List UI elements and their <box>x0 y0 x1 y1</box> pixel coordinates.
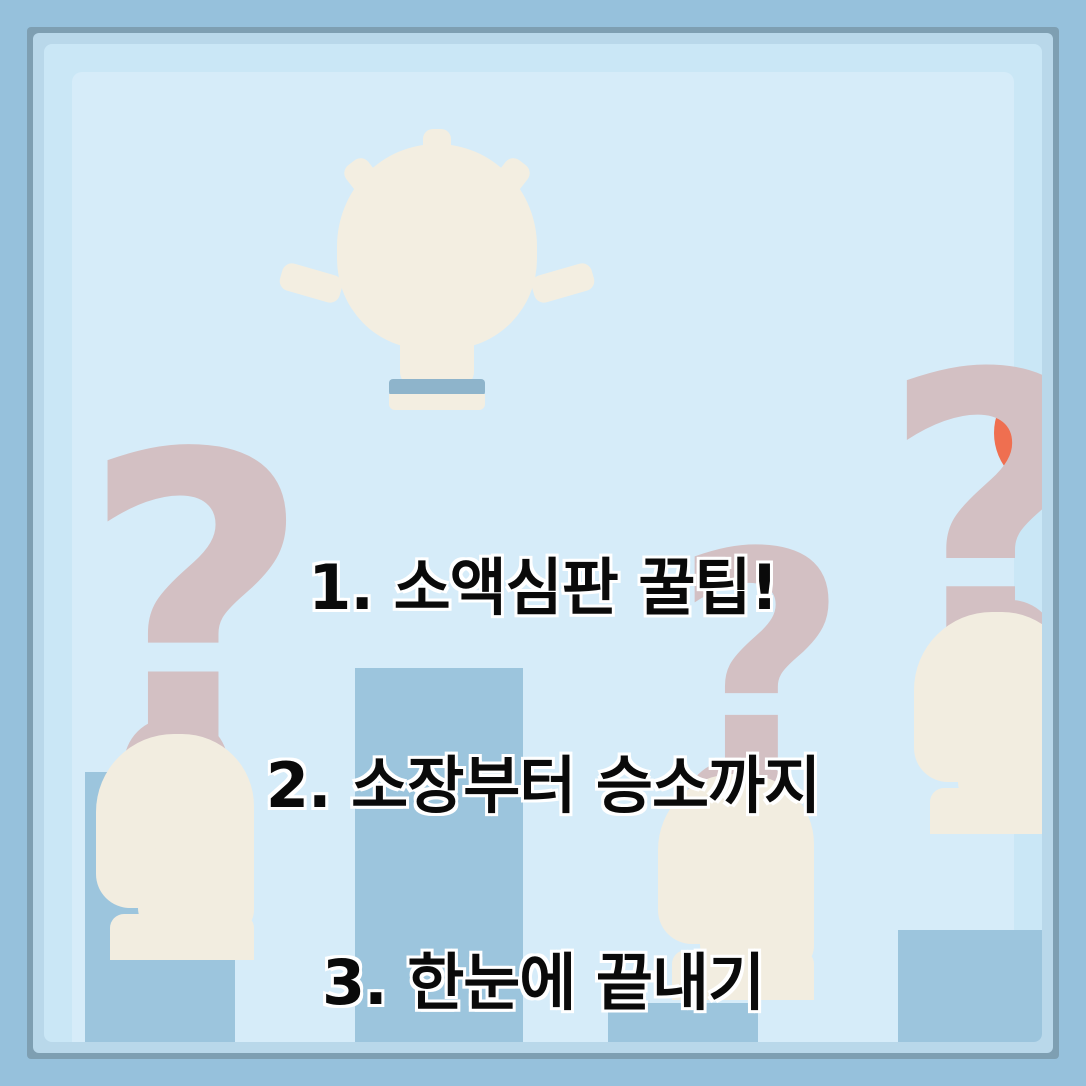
headline-line-2: 2. 소장부터 승소까지 <box>44 753 1042 819</box>
poster-inner-panel: ? ? ? <box>44 44 1042 1042</box>
idea-lightbulb <box>337 84 577 424</box>
page-title: 1. 소액심판 꿀팁! 2. 소장부터 승소까지 3. 한눈에 끝내기 <box>44 424 1042 1042</box>
headline-line-3: 3. 한눈에 끝내기 <box>44 950 1042 1016</box>
headline-line-1: 1. 소액심판 꿀팁! <box>44 555 1042 621</box>
bulb-ray-right <box>529 261 596 305</box>
bulb-cap-lower <box>389 394 485 410</box>
bulb-ray-left <box>277 261 344 305</box>
poster-canvas: ? ? ? <box>0 0 1086 1086</box>
illustration-scene: ? ? ? <box>44 44 1042 1042</box>
bulb-neck <box>400 316 474 386</box>
